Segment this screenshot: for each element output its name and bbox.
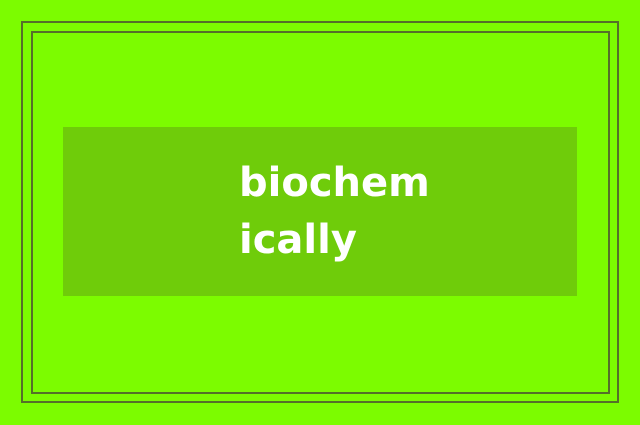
caption-line-1: biochem [239,155,569,212]
image-canvas: biochem ically [0,0,640,425]
caption-text-block: biochem ically [239,155,569,269]
caption-line-2: ically [239,212,569,269]
content-panel: biochem ically [63,127,577,296]
